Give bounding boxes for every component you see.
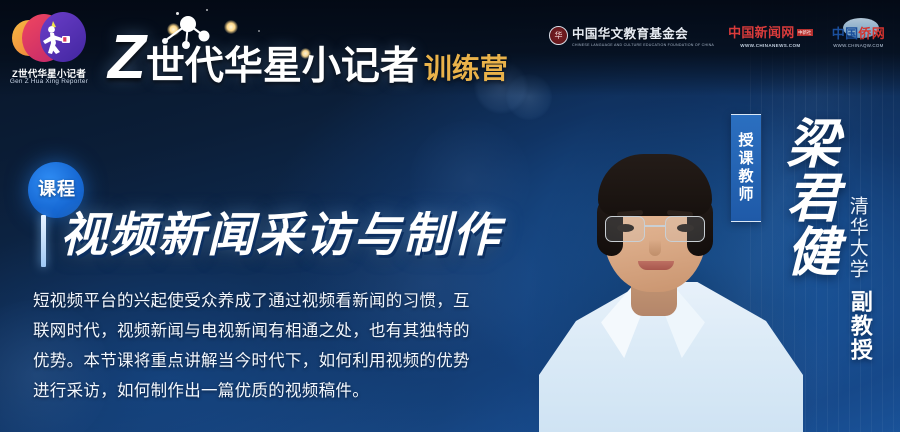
partner-name-cn: 中国新闻网	[728, 26, 795, 41]
course-badge-label: 课程	[38, 175, 76, 201]
partner-name-en: WWW.CHINANEWS.COM	[740, 43, 800, 48]
logo-mark-icon	[12, 10, 86, 66]
logo-english-name: Gen Z Hua Xing Reporter	[6, 78, 92, 85]
organization-logo: Z世代华星小记者 Gen Z Hua Xing Reporter	[6, 8, 92, 94]
course-poster: Z世代华星小记者 Gen Z Hua Xing Reporter Z 世代华星小…	[0, 0, 900, 432]
partner-name-en: CHINESE LANGUAGE AND CULTURE EDUCATION F…	[572, 43, 714, 47]
partner-name-cn-a: 中国	[832, 27, 859, 42]
partner-name-cn: 中国华文教育基金会	[572, 23, 714, 42]
instructor-name: 梁君健	[774, 116, 836, 278]
partner-name-cn-b: 侨网	[858, 27, 885, 42]
seal-char: 华	[554, 30, 562, 41]
course-description: 短视频平台的兴起使受众养成了通过视频看新闻的习惯，互联网时代，视频新闻与电视新闻…	[33, 286, 473, 406]
course-title: 视频新闻采访与制作	[60, 207, 501, 264]
seal-icon: 华	[549, 26, 568, 45]
partner-logo-chinanews: 中国新闻网中新社 WWW.CHINANEWS.COM	[728, 22, 813, 49]
partner-logo-cfcef: 华 中国华文教育基金会 CHINESE LANGUAGE AND CULTURE…	[549, 23, 714, 47]
instructor-organization: 清华大学	[845, 196, 869, 280]
instructor-rank: 副教授	[845, 290, 872, 362]
title-accent-bar	[41, 215, 46, 267]
brand-title-z: Z	[108, 29, 144, 86]
brand-title-chinese: 世代华星小记者	[146, 47, 419, 86]
partner-logos: 华 中国华文教育基金会 CHINESE LANGUAGE AND CULTURE…	[549, 20, 890, 50]
brand-title-camp: 训练营	[424, 55, 508, 86]
sparkle-dot	[206, 9, 208, 11]
instructor-ribbon: 授课教师	[731, 114, 761, 222]
partner-logo-chinaqw: 中国侨网 WWW.CHINAQW.COM	[827, 20, 890, 50]
partner-badge: 中新社	[797, 29, 813, 36]
partner-name-en: WWW.CHINAQW.COM	[833, 43, 883, 48]
instructor-ribbon-label: 授课教师	[736, 132, 757, 204]
brand-title: Z 世代华星小记者 训练营	[108, 14, 508, 86]
reporter-figure-icon	[34, 16, 74, 60]
